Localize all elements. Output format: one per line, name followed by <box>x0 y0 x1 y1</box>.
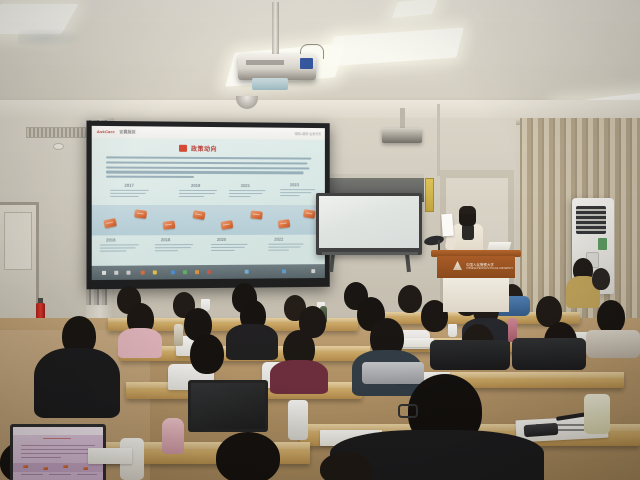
taskbar-icon[interactable] <box>245 270 248 274</box>
taskbar-icon[interactable] <box>311 269 314 272</box>
laptop-screen <box>191 383 265 429</box>
timeline-year: 2019 <box>191 183 200 188</box>
tote-bag <box>586 330 640 358</box>
taskbar-icon[interactable] <box>126 271 130 275</box>
ceiling-speaker-mount <box>400 108 405 130</box>
timeline-year: 2023 <box>290 182 299 187</box>
yellow-vertical-sign <box>425 178 434 212</box>
timeline-note <box>268 244 307 253</box>
timeline-year: 2020 <box>217 237 226 242</box>
taskbar-icon[interactable] <box>114 271 118 275</box>
projector-port <box>300 58 313 69</box>
slide-brand-name: 安翼服装 <box>119 129 135 135</box>
slide-title: 政策动向 <box>191 144 217 153</box>
timeline-note <box>110 190 151 199</box>
projector-vent <box>246 60 284 65</box>
lectern-plaque-subtext: CHINESE PEOPLE'S POLICE UNIVERSITY <box>466 267 513 270</box>
whiteboard-tray <box>322 252 418 255</box>
lecture-hall-photo: AskCare 安翼服装 "保险+期货"业务背景 政策动向 2017 2019 … <box>0 0 640 480</box>
ac-energy-label <box>598 238 607 250</box>
taskbar-icon[interactable] <box>195 270 198 274</box>
timeline-year: 2018 <box>161 237 170 242</box>
smartphone-on-desk <box>524 423 559 437</box>
timeline-note <box>280 189 319 197</box>
folder-icon <box>250 210 263 219</box>
eyeglasses <box>398 404 418 418</box>
slide-body-text <box>106 156 311 181</box>
student-torso <box>34 348 120 418</box>
folder-icon <box>278 219 291 228</box>
backpack <box>512 338 586 370</box>
ac-grille <box>576 206 606 234</box>
lectern-base <box>443 278 509 312</box>
laptop-sleeve <box>362 362 424 384</box>
student-head-foreground <box>216 432 280 480</box>
door-panel <box>4 212 32 270</box>
student-torso <box>118 328 162 358</box>
mobile-whiteboard <box>316 193 422 255</box>
taskbar-icon[interactable] <box>102 271 106 275</box>
drink-cup <box>584 394 610 434</box>
taskbar-icon[interactable] <box>141 271 145 275</box>
projector-lens <box>252 78 288 90</box>
timeline-note <box>179 190 219 198</box>
student-head <box>592 268 610 290</box>
student-head <box>597 300 625 334</box>
backpack <box>430 340 510 370</box>
open-notebook <box>88 448 132 464</box>
slide-brand-logo: AskCare <box>97 129 115 134</box>
student-torso <box>270 360 328 394</box>
timeline-band <box>92 205 325 235</box>
timeline-note <box>100 244 141 253</box>
mirrored-slide-header <box>13 427 103 435</box>
thermos-bottle <box>162 418 184 454</box>
folder-icon <box>134 209 147 219</box>
taskbar-icon[interactable] <box>153 270 157 274</box>
slide-title-marker <box>179 145 187 152</box>
timeline-year: 2022 <box>274 237 283 242</box>
open-notebook <box>400 338 434 347</box>
student-torso <box>226 324 278 360</box>
taskbar-icon[interactable] <box>183 270 187 274</box>
folder-icon <box>303 209 316 219</box>
smoke-detector-icon <box>53 143 64 150</box>
whiteboard-smudge <box>18 28 84 48</box>
taskbar-icon[interactable] <box>207 270 210 274</box>
water-bottle <box>288 400 308 440</box>
student-head-foreground <box>320 452 372 480</box>
projection-screen-surface: AskCare 安翼服装 "保险+期货"业务背景 政策动向 2017 2019 … <box>92 126 325 280</box>
whiteboard-surface[interactable] <box>319 196 419 248</box>
presenter-scarf <box>462 224 474 240</box>
taskbar-icon[interactable] <box>282 269 285 272</box>
timeline-year: 2017 <box>124 183 133 188</box>
drop-rod <box>437 104 440 176</box>
paper-cup <box>448 324 457 337</box>
windows-taskbar[interactable] <box>92 264 325 280</box>
slide-header-right: "保险+期货"业务背景 <box>294 131 321 135</box>
timeline-year: 2021 <box>241 183 250 188</box>
presenter-fringe <box>459 206 476 214</box>
ceiling-speaker-icon <box>382 128 422 143</box>
presenter-paper <box>441 214 454 237</box>
folder-icon <box>163 220 176 229</box>
student-head <box>190 334 224 374</box>
taskbar-icon[interactable] <box>171 270 175 274</box>
student-laptop-center[interactable] <box>188 380 268 432</box>
student-head <box>398 285 422 313</box>
timeline-note <box>211 244 251 253</box>
timeline-note <box>229 190 268 198</box>
timeline-year: 2016 <box>106 237 116 242</box>
projection-screen: AskCare 安翼服装 "保险+期货"业务背景 政策动向 2017 2019 … <box>87 121 330 290</box>
projector-mount-pole <box>272 2 279 58</box>
timeline-note <box>155 244 195 253</box>
presentation-slide: AskCare 安翼服装 "保险+期货"业务背景 政策动向 2017 2019 … <box>92 126 325 266</box>
water-bottle <box>174 324 183 346</box>
